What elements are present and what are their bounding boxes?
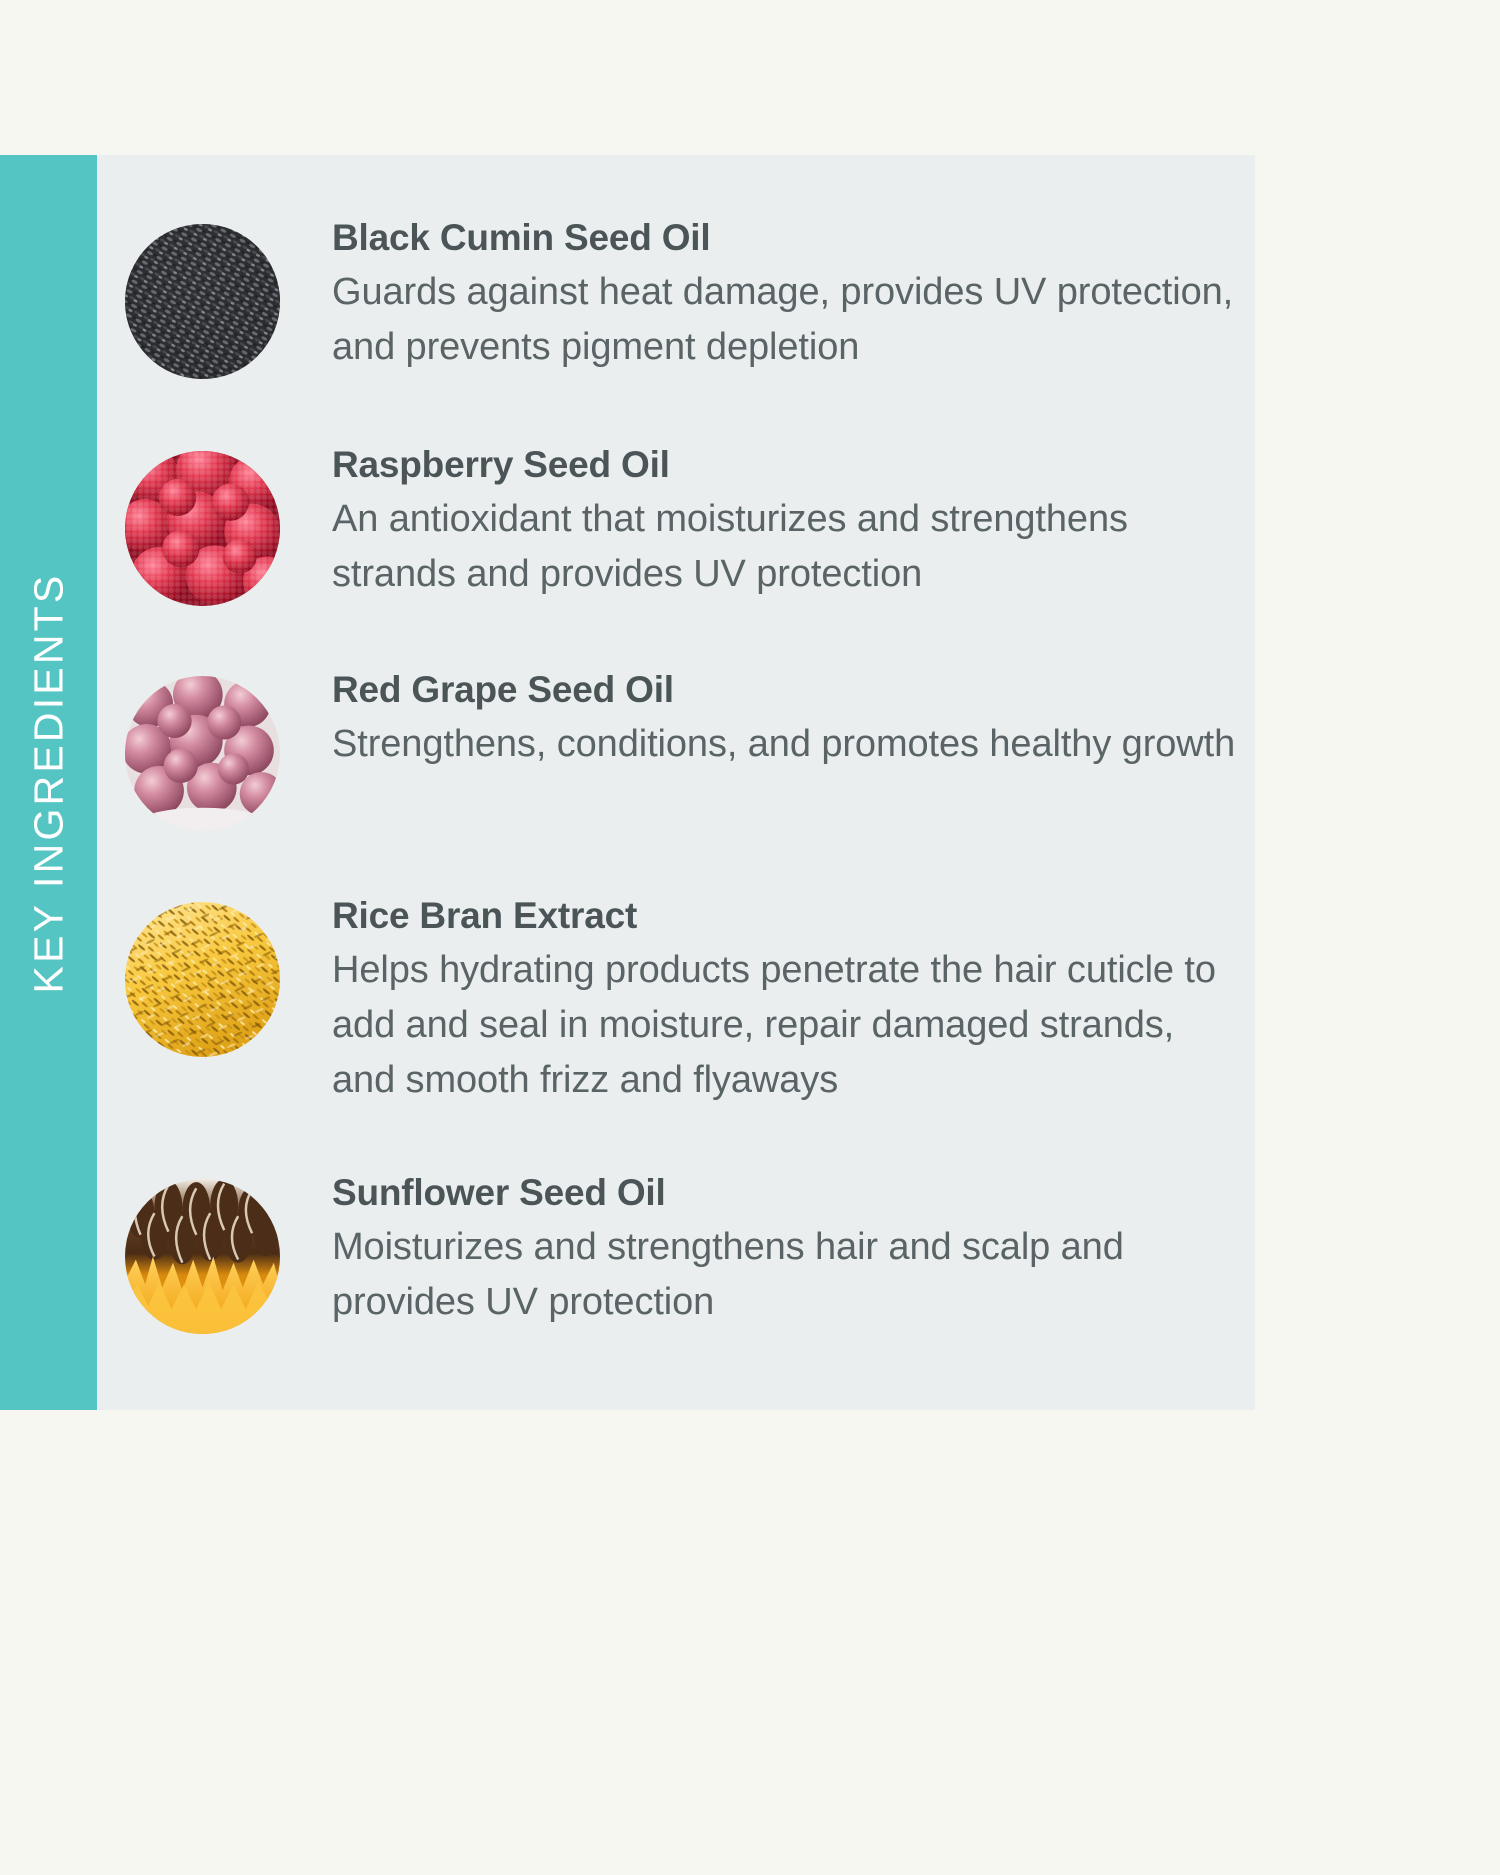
key-ingredients-rail: KEY INGREDIENTS <box>0 155 97 1410</box>
ingredient-row: Raspberry Seed Oil An antioxidant that m… <box>125 442 1237 606</box>
key-ingredients-card: KEY INGREDIENTS <box>0 155 1255 1410</box>
ingredient-description: Helps hydrating products penetrate the h… <box>332 943 1237 1108</box>
ingredient-text: Raspberry Seed Oil An antioxidant that m… <box>332 442 1237 602</box>
ingredient-text: Rice Bran Extract Helps hydrating produc… <box>332 893 1237 1109</box>
ingredient-row: Sunflower Seed Oil Moisturizes and stren… <box>125 1170 1237 1334</box>
sunflower-seed-head-image <box>125 1179 280 1334</box>
ingredient-text: Sunflower Seed Oil Moisturizes and stren… <box>332 1170 1237 1330</box>
key-ingredients-rail-label: KEY INGREDIENTS <box>25 572 72 993</box>
ingredient-row: Black Cumin Seed Oil Guards against heat… <box>125 215 1237 379</box>
ingredient-description: Moisturizes and strengthens hair and sca… <box>332 1220 1237 1330</box>
ingredient-text: Black Cumin Seed Oil Guards against heat… <box>332 215 1237 375</box>
ingredients-list: Black Cumin Seed Oil Guards against heat… <box>97 155 1255 1410</box>
ingredients-infographic: KEY INGREDIENTS <box>0 0 1500 1875</box>
rice-bran-grains-image <box>125 902 280 1057</box>
red-grapes-image <box>125 676 280 831</box>
ingredient-row: Rice Bran Extract Helps hydrating produc… <box>125 893 1237 1109</box>
ingredient-text: Red Grape Seed Oil Strengthens, conditio… <box>332 667 1237 772</box>
ingredient-name: Sunflower Seed Oil <box>332 1170 1237 1216</box>
ingredient-name: Red Grape Seed Oil <box>332 667 1237 713</box>
ingredient-row: Red Grape Seed Oil Strengthens, conditio… <box>125 667 1237 831</box>
raspberries-image <box>125 451 280 606</box>
ingredient-name: Raspberry Seed Oil <box>332 442 1237 488</box>
ingredient-description: Guards against heat damage, provides UV … <box>332 265 1237 375</box>
black-cumin-seeds-image <box>125 224 280 379</box>
ingredient-name: Black Cumin Seed Oil <box>332 215 1237 261</box>
ingredient-description: Strengthens, conditions, and promotes he… <box>332 717 1237 772</box>
ingredient-description: An antioxidant that moisturizes and stre… <box>332 492 1237 602</box>
ingredient-name: Rice Bran Extract <box>332 893 1237 939</box>
